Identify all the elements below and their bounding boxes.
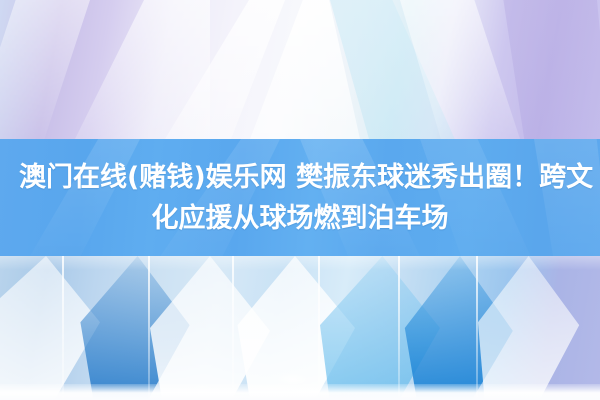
facet-diamond — [320, 256, 440, 400]
facet-crease — [318, 256, 320, 400]
background-top-zone — [0, 0, 600, 139]
facet-crease — [62, 256, 64, 400]
facet-shape — [60, 0, 210, 139]
headline-line-1: 澳门在线(赌钱)娱乐网 樊振东球迷秀出圈！跨文 — [9, 157, 591, 198]
facet-crease — [476, 256, 478, 400]
facet-diamond — [0, 256, 100, 400]
facet-diamond — [70, 256, 200, 400]
facet-crease — [148, 256, 150, 400]
bottom-white-strip — [0, 384, 600, 400]
headline-line-2: 化应援从球场燃到泊车场 — [152, 198, 449, 239]
facet-crease — [232, 256, 234, 400]
banner-image: 澳门在线(赌钱)娱乐网 樊振东球迷秀出圈！跨文 化应援从球场燃到泊车场 — [0, 0, 600, 400]
facet-diamond — [400, 256, 520, 400]
facet-diamond — [235, 256, 360, 400]
headline-text-block: 澳门在线(赌钱)娱乐网 樊振东球迷秀出圈！跨文 化应援从球场燃到泊车场 — [0, 139, 600, 256]
facet-shape — [400, 0, 520, 139]
background-bottom-zone — [0, 256, 600, 400]
facet-shape — [330, 0, 460, 139]
facet-shape — [250, 0, 360, 139]
facet-shape — [480, 0, 600, 139]
facet-crease — [398, 256, 400, 400]
facet-shape — [165, 0, 285, 139]
facet-diamond — [478, 256, 588, 400]
facet-shape — [0, 0, 90, 139]
zone-edge-highlight — [0, 256, 600, 270]
facet-diamond — [150, 256, 270, 400]
